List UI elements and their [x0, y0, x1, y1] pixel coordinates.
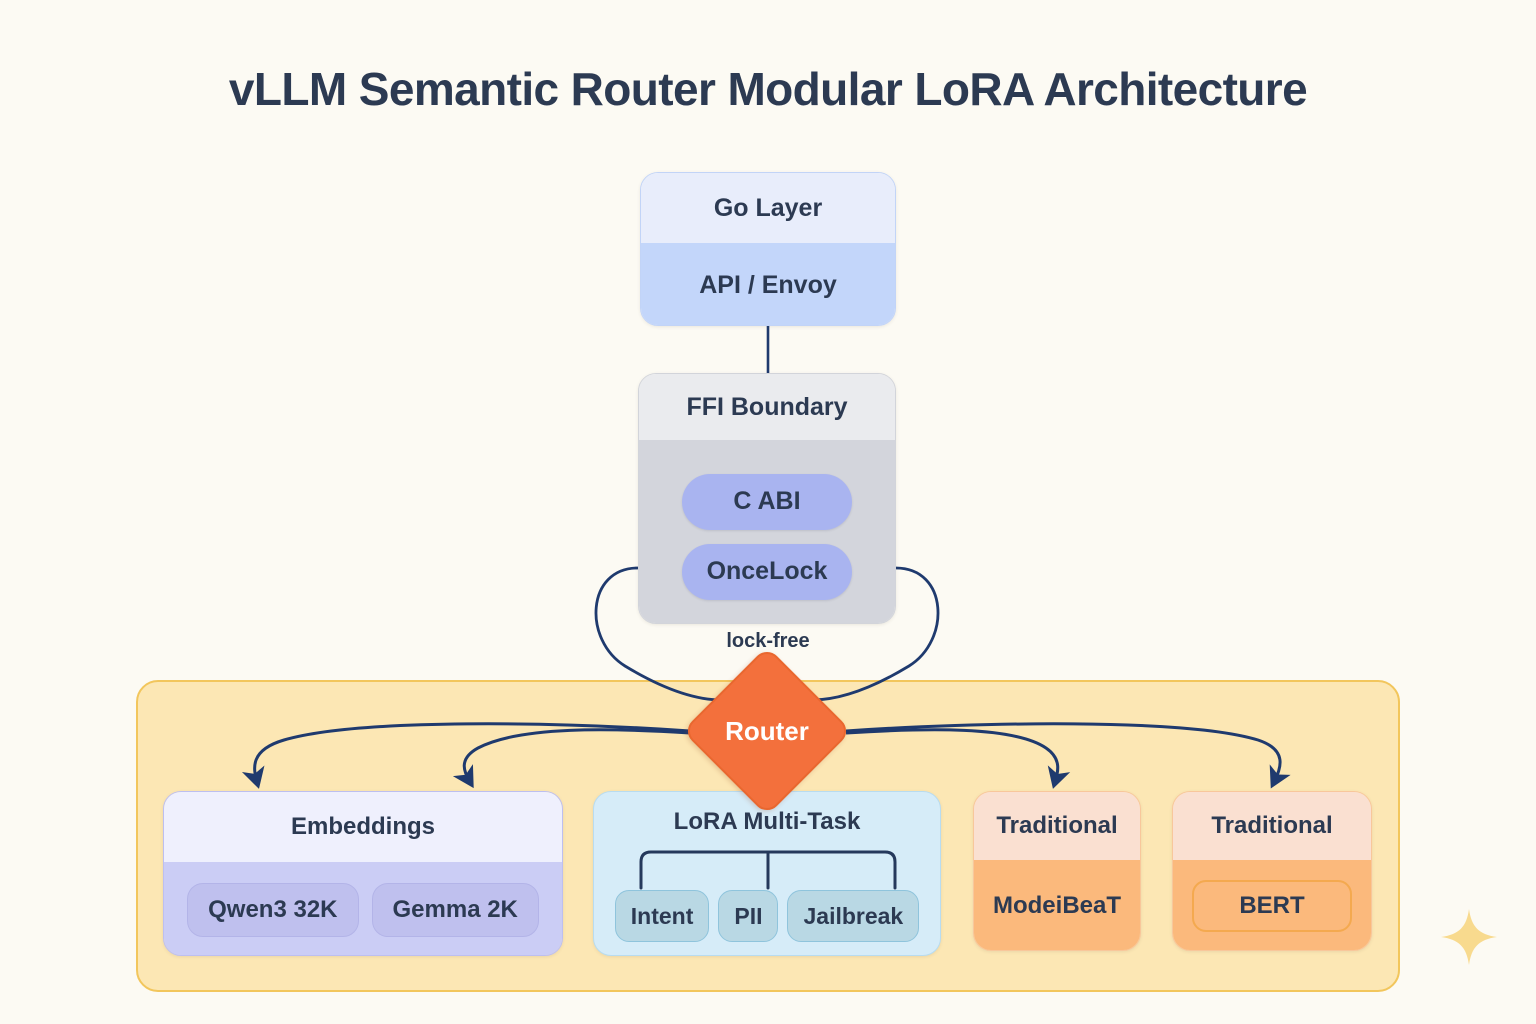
router-label: Router	[683, 647, 851, 815]
node-traditional-1[interactable]: Traditional ModeiBeaT	[973, 791, 1141, 951]
lora-bracket-connector	[594, 844, 941, 892]
lora-pill-row: Intent PII Jailbreak	[594, 890, 940, 942]
node-embeddings[interactable]: Embeddings Qwen3 32K Gemma 2K	[163, 791, 563, 956]
traditional-1-body: ModeiBeaT	[974, 860, 1140, 951]
sparkle-icon	[1437, 905, 1501, 969]
node-go-layer[interactable]: Go Layer API / Envoy	[640, 172, 896, 326]
traditional-2-title: Traditional	[1173, 792, 1371, 860]
lora-pill-jailbreak[interactable]: Jailbreak	[787, 890, 919, 942]
embeddings-pill-gemma[interactable]: Gemma 2K	[372, 883, 539, 937]
go-layer-api-envoy: API / Envoy	[641, 243, 895, 326]
embeddings-title: Embeddings	[164, 792, 562, 862]
ffi-pill-oncelock[interactable]: OnceLock	[682, 544, 852, 600]
lora-pill-intent[interactable]: Intent	[615, 890, 710, 942]
traditional-2-body: BERT	[1173, 860, 1371, 951]
go-layer-title: Go Layer	[641, 173, 895, 243]
ffi-pill-c-abi[interactable]: C ABI	[682, 474, 852, 530]
page-title: vLLM Semantic Router Modular LoRA Archit…	[0, 62, 1536, 116]
embeddings-pill-qwen3[interactable]: Qwen3 32K	[187, 883, 358, 937]
ffi-boundary-body: C ABI OnceLock	[639, 440, 895, 624]
node-router[interactable]: Router	[683, 647, 851, 815]
node-ffi-boundary[interactable]: FFI Boundary C ABI OnceLock	[638, 373, 896, 624]
lora-pill-pii[interactable]: PII	[718, 890, 778, 942]
node-traditional-2[interactable]: Traditional BERT	[1172, 791, 1372, 951]
diagram-canvas: vLLM Semantic Router Modular LoRA Archit…	[0, 0, 1536, 1024]
ffi-boundary-title: FFI Boundary	[639, 374, 895, 440]
traditional-1-model: ModeiBeaT	[993, 892, 1121, 920]
node-lora-multi-task[interactable]: LoRA Multi-Task Intent PII Jailbreak	[593, 791, 941, 956]
traditional-1-title: Traditional	[974, 792, 1140, 860]
embeddings-body: Qwen3 32K Gemma 2K	[164, 862, 562, 956]
traditional-2-pill-bert[interactable]: BERT	[1192, 880, 1352, 932]
